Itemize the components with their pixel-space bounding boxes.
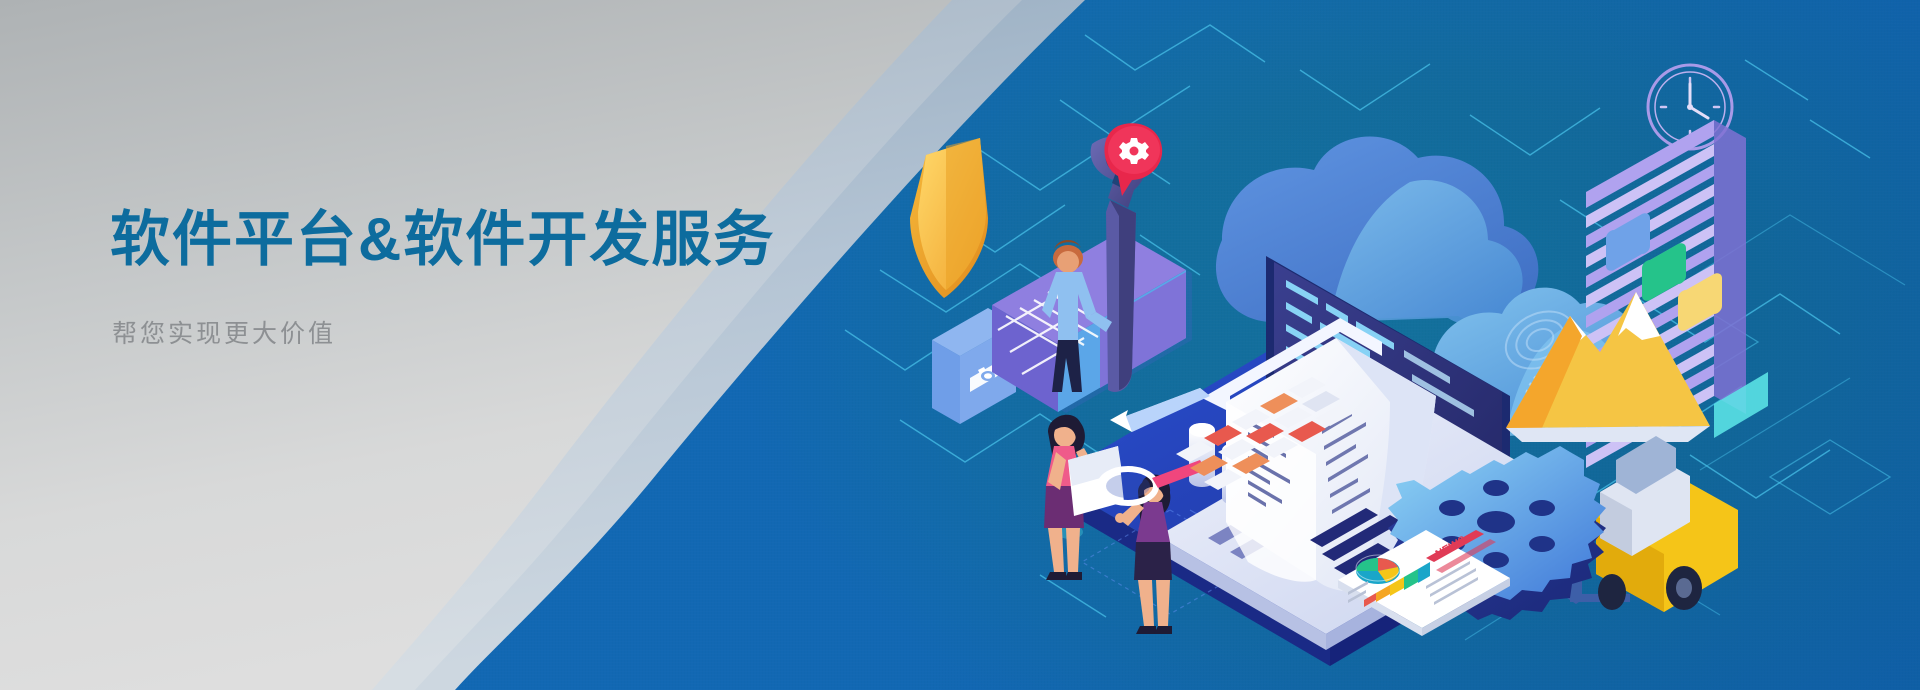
shield-icon	[910, 138, 988, 298]
hero-text-block: 软件平台&软件开发服务 帮您实现更大价值	[110, 205, 830, 350]
hero-banner: 软件平台&软件开发服务 帮您实现更大价值	[0, 0, 1920, 690]
page-title: 软件平台&软件开发服务	[110, 205, 830, 276]
calendar-panel	[992, 232, 1192, 418]
isometric-scene: NEWS	[870, 40, 1920, 690]
hero-illustration: NEWS	[870, 40, 1920, 690]
page-subtitle: 帮您实现更大价值	[112, 314, 830, 350]
